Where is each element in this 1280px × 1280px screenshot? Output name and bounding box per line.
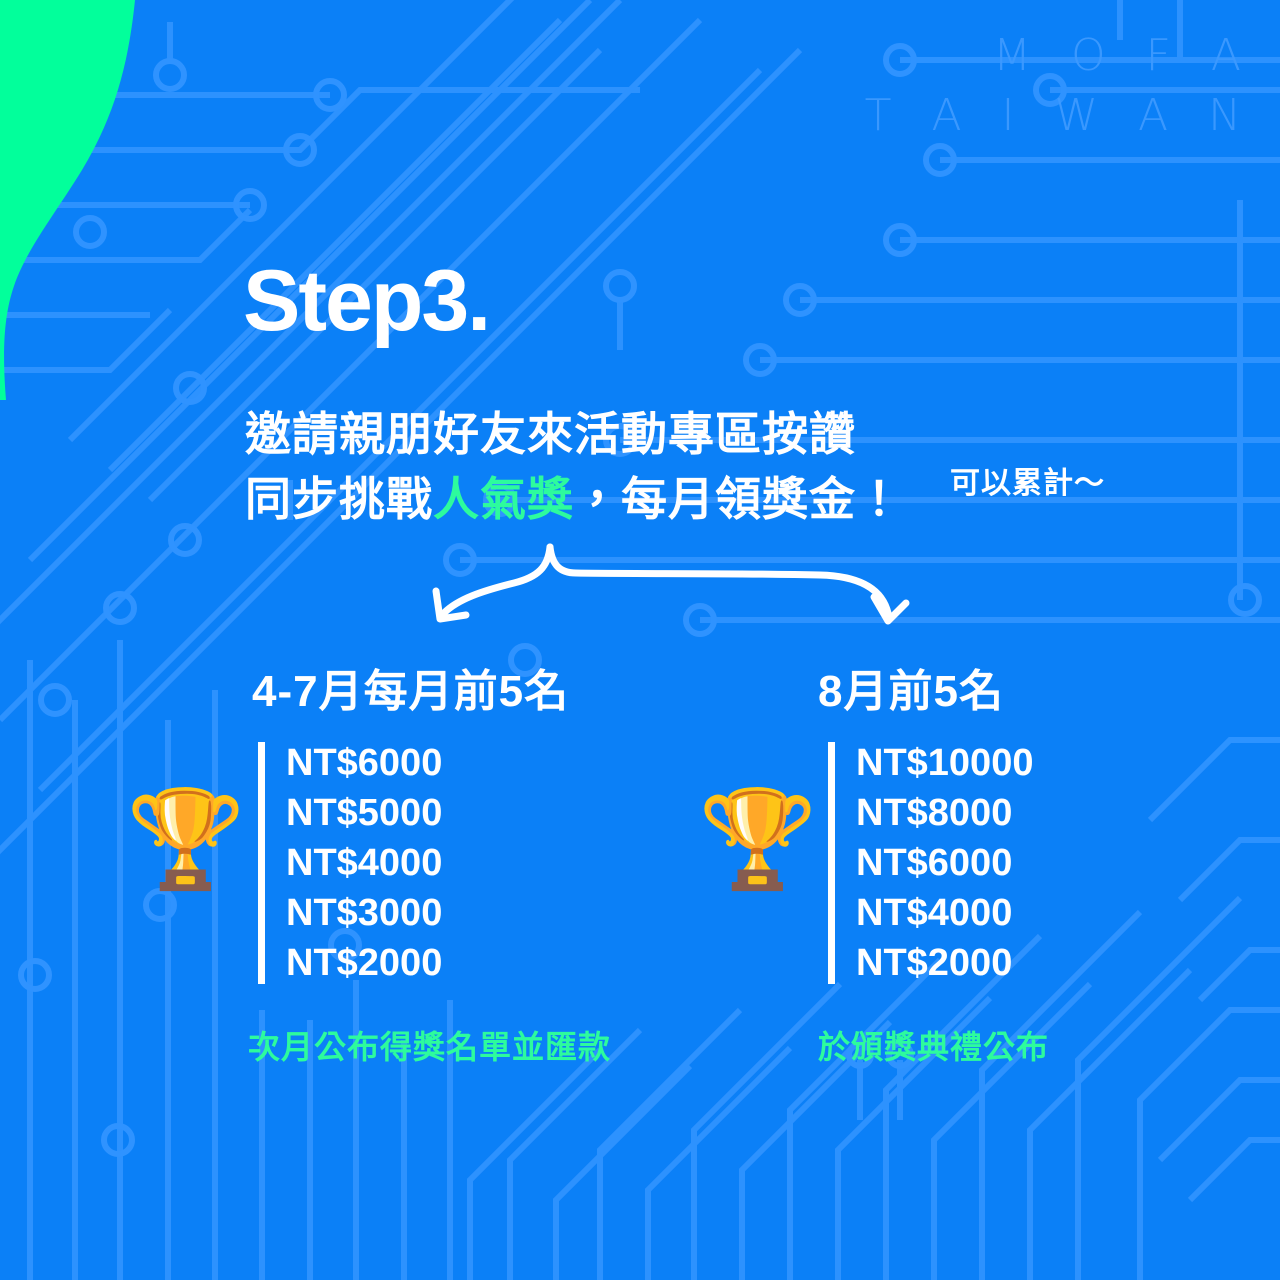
prize-list-apr-jul: NT$6000 NT$5000 NT$4000 NT$3000 NT$2000 bbox=[258, 738, 442, 988]
lead-paragraph: 邀請親朋好友來活動專區按讚 同步挑戰人氣獎，每月領獎金！ bbox=[245, 402, 903, 533]
trophy-icon-right: 🏆 bbox=[698, 792, 818, 888]
side-note-cumulative: 可以累計～ bbox=[950, 458, 1105, 502]
prize-item: NT$6000 bbox=[286, 738, 442, 788]
prize-item: NT$2000 bbox=[856, 938, 1033, 988]
lead-line-1: 邀請親朋好友來活動專區按讚 bbox=[245, 402, 903, 467]
prize-block-aug: NT$10000 NT$8000 NT$6000 NT$4000 NT$2000 bbox=[828, 738, 1033, 988]
lead-highlight-popularity-award: 人氣獎 bbox=[433, 473, 574, 525]
column-heading-apr-jul: 4-7月每月前5名 bbox=[252, 655, 569, 719]
logo-line-taiwan: T A I W A N bbox=[852, 94, 1254, 138]
prize-item: NT$2000 bbox=[286, 938, 442, 988]
column-heading-aug: 8月前5名 bbox=[818, 655, 1004, 719]
green-corner-blob bbox=[0, 0, 230, 400]
prize-item: NT$6000 bbox=[856, 838, 1033, 888]
mofa-taiwan-logo: M O F A T A I W A N bbox=[852, 34, 1254, 138]
prize-item: NT$3000 bbox=[286, 888, 442, 938]
prize-list-aug: NT$10000 NT$8000 NT$6000 NT$4000 NT$2000 bbox=[828, 738, 1033, 988]
trophy-icon-left: 🏆 bbox=[126, 792, 246, 888]
promo-graphic: M O F A T A I W A N Step3. 邀請親朋好友來活動專區按讚… bbox=[0, 0, 1280, 1280]
logo-line-mofa: M O F A bbox=[852, 34, 1254, 78]
prize-block-apr-jul: NT$6000 NT$5000 NT$4000 NT$3000 NT$2000 bbox=[258, 738, 442, 988]
lead-line-2-prefix: 同步挑戰 bbox=[245, 473, 433, 525]
lead-line-2: 同步挑戰人氣獎，每月領獎金！ bbox=[245, 467, 903, 532]
circuit-background-pattern bbox=[0, 0, 1280, 1280]
split-arrow-icon bbox=[400, 535, 940, 655]
lead-line-2-suffix: ，每月領獎金！ bbox=[574, 473, 903, 525]
prize-item: NT$4000 bbox=[856, 888, 1033, 938]
prize-item: NT$4000 bbox=[286, 838, 442, 888]
footnote-apr-jul: 次月公布得獎名單並匯款 bbox=[248, 1022, 611, 1068]
prize-item: NT$10000 bbox=[856, 738, 1033, 788]
prize-item: NT$5000 bbox=[286, 788, 442, 838]
footnote-aug: 於頒獎典禮公布 bbox=[818, 1022, 1049, 1068]
prize-item: NT$8000 bbox=[856, 788, 1033, 838]
step-title: Step3. bbox=[243, 258, 489, 344]
